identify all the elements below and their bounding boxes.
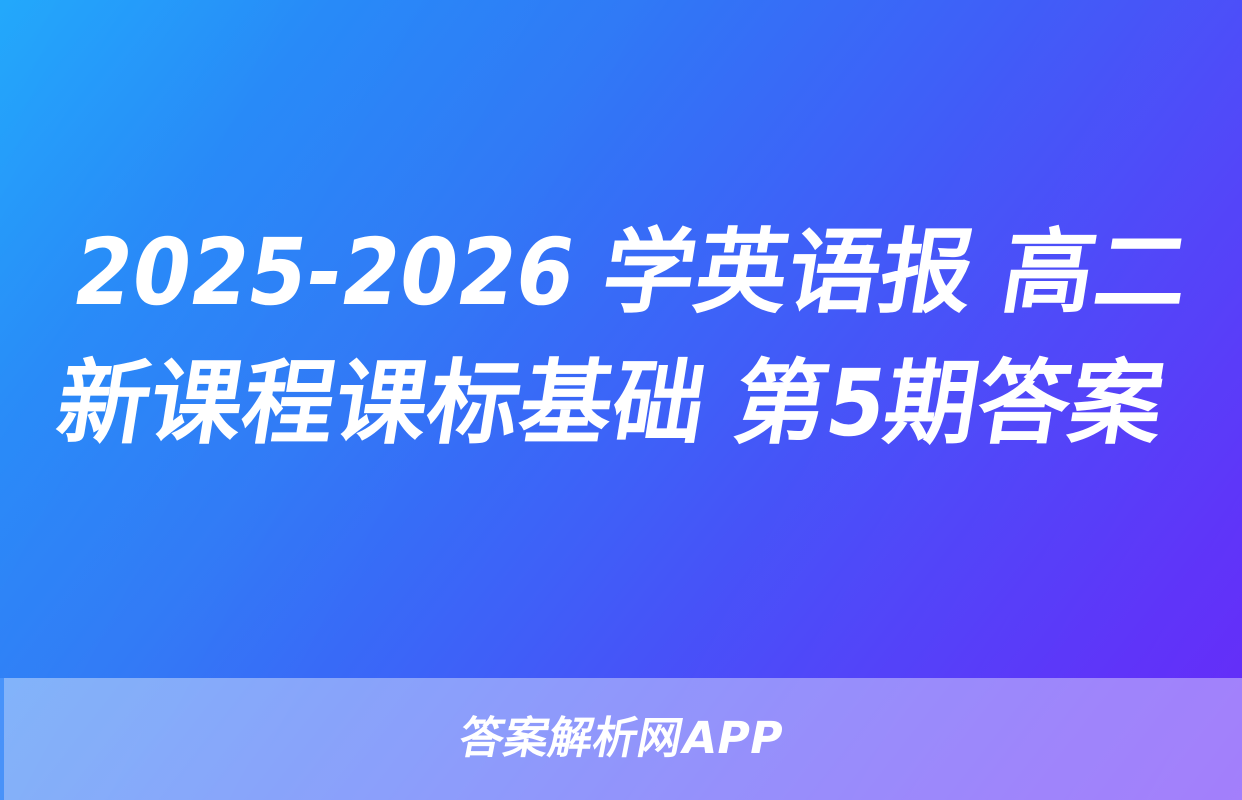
page-title: 2025-2026 学英语报 高二 新课程课标基础 第5期答案 <box>25 208 1216 469</box>
answer-cover-card: 2025-2026 学英语报 高二 新课程课标基础 第5期答案 答案解析网APP <box>0 0 1242 800</box>
app-watermark-label: 答案解析网APP <box>455 717 786 761</box>
footer-watermark-band: 答案解析网APP <box>0 678 1242 800</box>
footer-left-edge-accent <box>0 678 4 800</box>
title-area: 2025-2026 学英语报 高二 新课程课标基础 第5期答案 <box>0 0 1242 678</box>
